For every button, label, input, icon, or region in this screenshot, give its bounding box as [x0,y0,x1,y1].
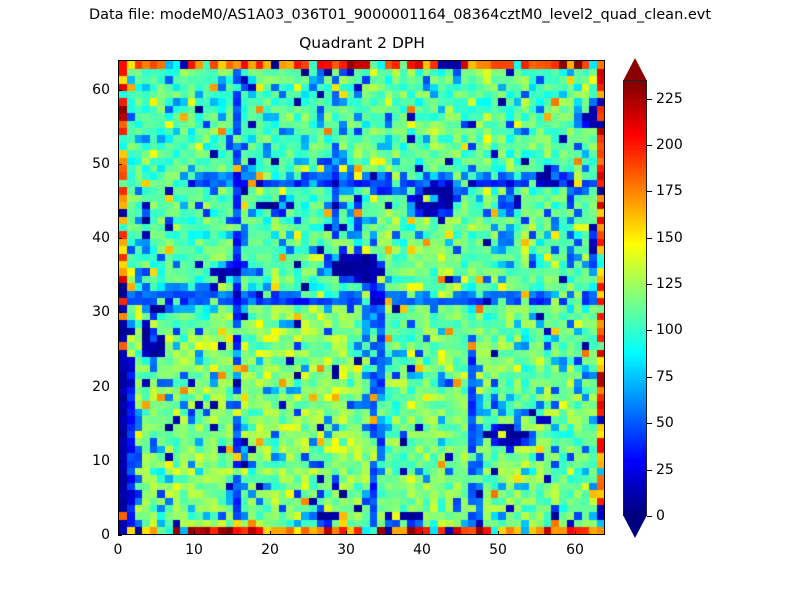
x-tick-label: 10 [169,543,219,557]
colorbar-extend-min-arrow [623,515,647,538]
y-tick-label: 60 [62,83,110,97]
x-tick-mark [575,531,576,535]
y-tick-mark [118,312,122,313]
colorbar-tick-label: 150 [656,231,683,245]
colorbar-tick-label: 0 [656,509,665,523]
x-tick-label: 30 [321,543,371,557]
colorbar-tick-mark [647,423,652,424]
colorbar-tick-label: 75 [656,370,674,384]
y-tick-label: 30 [62,305,110,319]
y-tick-mark [118,535,122,536]
colorbar-body [623,80,647,516]
x-tick-mark [422,531,423,535]
colorbar-tick-label: 225 [656,92,683,106]
y-tick-label: 50 [62,157,110,171]
colorbar-tick-mark [647,99,652,100]
y-tick-mark [118,461,122,462]
y-tick-label: 10 [62,454,110,468]
colorbar-tick-mark [647,145,652,146]
colorbar-tick-mark [647,330,652,331]
x-tick-label: 50 [473,543,523,557]
y-tick-mark [118,387,122,388]
colorbar-tick-mark [647,470,652,471]
x-tick-mark [270,531,271,535]
x-tick-label: 0 [93,543,143,557]
colorbar-tick-mark [647,377,652,378]
x-tick-label: 40 [397,543,447,557]
data-file-title: Data file: modeM0/AS1A03_036T01_90000011… [0,6,800,24]
colorbar-tick-mark [647,191,652,192]
x-tick-mark [346,531,347,535]
colorbar-tick-label: 25 [656,463,674,477]
colorbar-gradient [624,81,646,515]
x-tick-mark [194,531,195,535]
colorbar-tick-label: 200 [656,138,683,152]
colorbar-tick-label: 50 [656,416,674,430]
x-tick-label: 60 [550,543,600,557]
colorbar-tick-mark [647,238,652,239]
x-tick-label: 20 [245,543,295,557]
heatmap-axes [118,60,605,535]
heatmap-image [119,61,604,534]
y-tick-label: 40 [62,231,110,245]
colorbar-tick-mark [647,516,652,517]
y-tick-mark [118,238,122,239]
x-tick-mark [118,531,119,535]
y-tick-label: 20 [62,380,110,394]
page-title: Quadrant 2 DPH [118,33,606,53]
colorbar-tick-mark [647,284,652,285]
figure-canvas: Data file: modeM0/AS1A03_036T01_90000011… [0,0,800,600]
y-tick-mark [118,164,122,165]
y-tick-mark [118,90,122,91]
x-tick-mark [498,531,499,535]
y-tick-label: 0 [62,528,110,542]
colorbar-tick-label: 125 [656,277,683,291]
colorbar: 0255075100125150175200225 [623,58,649,538]
colorbar-tick-label: 100 [656,323,683,337]
colorbar-extend-max-arrow [623,58,647,81]
colorbar-tick-label: 175 [656,184,683,198]
